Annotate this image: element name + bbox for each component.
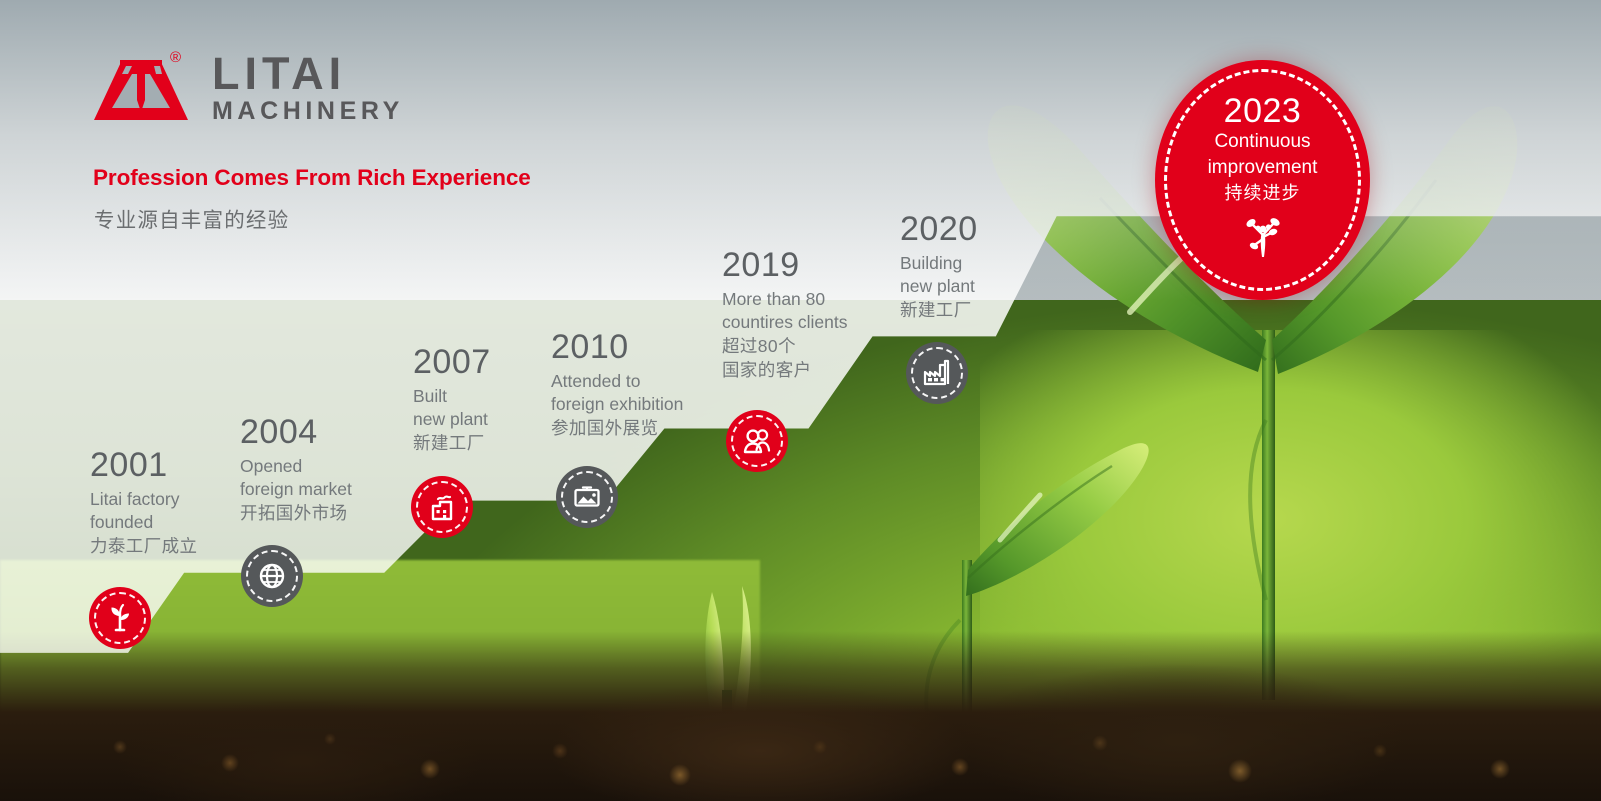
soil-crumbs [0,651,1601,801]
milestone-text: Litai factory founded 力泰工厂成立 [90,488,197,559]
milestone-line: new plant [413,408,491,432]
milestone-line: 新建工厂 [413,432,491,456]
factory-icon [427,492,457,522]
milestone-2019: 2019 More than 80 countires clients 超过80… [722,248,847,382]
brand-logo: ® LITAI MACHINERY [92,48,404,130]
milestone-line: foreign exhibition [551,393,683,417]
litai-trapezoid-logo-icon: ® [92,48,190,130]
milestone-text: Building new plant 新建工厂 [900,252,978,323]
milestone-line: Building [900,252,978,276]
tagline-english: Profession Comes From Rich Experience [93,165,531,191]
milestone-text: Built new plant 新建工厂 [413,385,491,456]
timeline-banner: ® LITAI MACHINERY Profession Comes From … [0,0,1601,801]
milestone-line: More than 80 [722,288,847,312]
milestone-line: Attended to [551,370,683,394]
milestone-year: 2007 [413,345,491,381]
highlight-chinese: 持续进步 [1225,182,1301,205]
milestone-year: 2001 [90,448,197,484]
milestone-line: 国家的客户 [722,359,847,383]
badge-2010[interactable] [556,466,618,528]
factory-sawtooth-icon [921,358,953,388]
brand-name-line1: LITAI [212,52,404,95]
globe-icon [257,561,287,591]
milestone-2007: 2007 Built new plant 新建工厂 [413,345,491,456]
milestone-year: 2019 [722,248,847,284]
highlight-line1: Continuous [1214,130,1310,154]
milestone-2010: 2010 Attended to foreign exhibition 参加国外… [551,330,683,441]
badge-2004[interactable] [241,545,303,607]
sprout-icon [105,603,135,633]
milestone-year: 2010 [551,330,683,366]
badge-2007[interactable] [411,476,473,538]
milestone-2004: 2004 Opened foreign market 开拓国外市场 [240,415,352,526]
picture-frame-icon [572,482,602,512]
highlight-year: 2023 [1224,94,1302,128]
tagline-chinese: 专业源自丰富的经验 [94,203,289,233]
milestone-line: 超过80个 [722,335,847,359]
highlight-badge-2023[interactable]: 2023 Continuous improvement 持续进步 [1155,60,1370,300]
milestone-line: new plant [900,275,978,299]
milestone-line: 开拓国外市场 [240,502,352,526]
people-group-icon [741,426,773,456]
highlight-line2: improvement [1208,156,1318,180]
milestone-line: founded [90,511,197,535]
milestone-text: More than 80 countires clients 超过80个 国家的… [722,288,847,383]
milestone-line: foreign market [240,478,352,502]
milestone-text: Attended to foreign exhibition 参加国外展览 [551,370,683,441]
brand-wordmark: LITAI MACHINERY [212,52,404,124]
milestone-line: 参加国外展览 [551,417,683,441]
milestone-2020: 2020 Building new plant 新建工厂 [900,212,978,323]
badge-2019[interactable] [726,410,788,472]
milestone-year: 2020 [900,212,978,248]
brand-name-line2: MACHINERY [212,98,404,124]
growing-tree-icon [1239,213,1287,264]
milestone-text: Opened foreign market 开拓国外市场 [240,455,352,526]
badge-2001[interactable] [89,587,151,649]
milestone-line: Opened [240,455,352,479]
badge-2020[interactable] [906,342,968,404]
milestone-2001: 2001 Litai factory founded 力泰工厂成立 [90,448,197,559]
milestone-line: countires clients [722,311,847,335]
milestone-line: 力泰工厂成立 [90,535,197,559]
milestone-year: 2004 [240,415,352,451]
milestone-line: 新建工厂 [900,299,978,323]
registered-trademark-icon: ® [170,50,181,65]
milestone-line: Litai factory [90,488,197,512]
milestone-line: Built [413,385,491,409]
